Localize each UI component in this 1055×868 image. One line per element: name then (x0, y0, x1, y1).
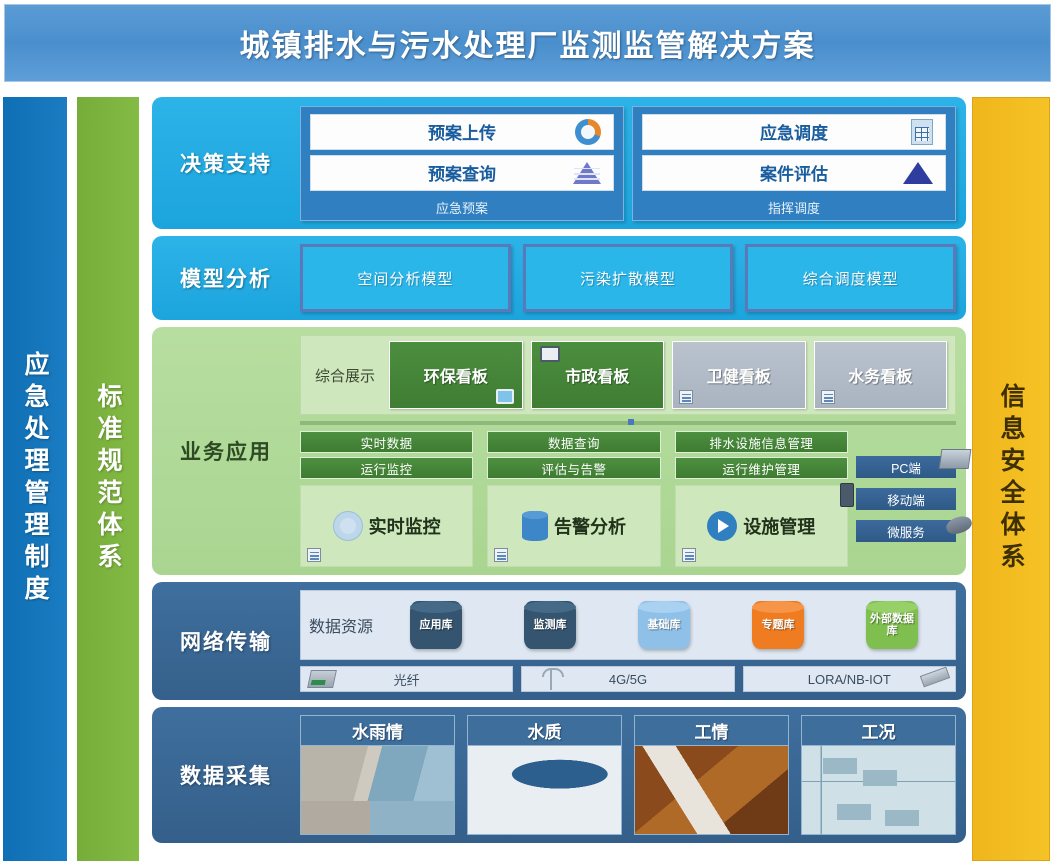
screen-icon (540, 346, 560, 362)
model-item-pollution[interactable]: 污染扩散模型 (523, 244, 734, 312)
business-button-assessment-alarm[interactable]: 评估与告警 (487, 457, 660, 479)
business-column-monitoring: 实时数据 运行监控 实时监控 (300, 431, 473, 567)
sedimentation-tanks-photo (468, 746, 621, 834)
data-card-label: 水质 (528, 718, 562, 743)
dashboard-card-water[interactable]: 水务看板 (814, 341, 948, 409)
fiber-icon (307, 670, 337, 688)
business-button-label: 数据查询 (548, 433, 600, 452)
network-links-row: 光纤 4G/5G LORA/NB-IOT (300, 666, 956, 692)
data-card-label: 工情 (695, 718, 729, 743)
rail-information-security: 信息安全体系 (972, 97, 1050, 861)
dashboard-card-health[interactable]: 卫健看板 (672, 341, 806, 409)
model-item-spatial[interactable]: 空间分析模型 (300, 244, 511, 312)
data-card-label: 水雨情 (352, 718, 403, 743)
mobile-icon (840, 483, 854, 507)
model-item-label: 空间分析模型 (357, 268, 453, 289)
decision-group-command-dispatch: 应急调度 案件评估 指挥调度 (632, 106, 956, 221)
business-button-label: 运行维护管理 (722, 459, 800, 478)
model-item-label: 污染扩散模型 (580, 268, 676, 289)
section-divider (300, 421, 956, 425)
pipe-trench-photo (635, 746, 788, 834)
doc-icon (682, 548, 696, 562)
data-card-head: 水质 (468, 716, 621, 746)
river-embankment-photo (301, 746, 454, 834)
network-link-label: 4G/5G (609, 672, 647, 687)
network-link-label: LORA/NB-IOT (808, 672, 891, 687)
business-column-facility: 排水设施信息管理 运行维护管理 设施管理 (675, 431, 848, 567)
model-items: 空间分析模型 污染扩散模型 综合调度模型 (300, 244, 966, 312)
database-foundation[interactable]: 基础库 (638, 601, 690, 649)
database-slot: 专题库 (723, 601, 833, 649)
decision-group-emergency-plan: 预案上传 预案查询 应急预案 (300, 106, 624, 221)
dashboard-caption: 综合展示 (309, 365, 381, 386)
dashboard-row: 综合展示 环保看板 市政看板 卫健看板 水务看板 (300, 335, 956, 415)
monitor-icon (496, 389, 514, 404)
database-icon (522, 511, 548, 541)
database-label: 监测库 (534, 619, 567, 631)
doc-icon (307, 548, 321, 562)
data-collection-cards: 水雨情 水质 工情 (300, 707, 966, 843)
database-external[interactable]: 外部数据库 (866, 601, 918, 649)
terminal-microservice[interactable]: 微服务 (856, 520, 956, 542)
architecture-diagram: 城镇排水与污水处理厂监测监管解决方案 应急处理管理制度 标准规范体系 信息安全体… (0, 0, 1055, 868)
sensor-icon (920, 667, 950, 688)
business-application-label: 业务应用 (152, 436, 300, 466)
decision-item-plan-upload[interactable]: 预案上传 (310, 114, 614, 150)
data-card-water-quality[interactable]: 水质 (467, 715, 622, 835)
decision-group-caption: 指挥调度 (642, 196, 946, 217)
business-button-operation-monitor[interactable]: 运行监控 (300, 457, 473, 479)
business-feature-label: 告警分析 (554, 513, 626, 539)
data-resources-caption: 数据资源 (309, 613, 377, 637)
decision-item-label: 预案查询 (428, 160, 496, 185)
dashboard-card-label: 市政看板 (565, 363, 629, 387)
data-card-head: 工情 (635, 716, 788, 746)
network-link-fiber[interactable]: 光纤 (300, 666, 513, 692)
data-card-engineering[interactable]: 工情 (634, 715, 789, 835)
dashboard-card-label: 卫健看板 (707, 363, 771, 387)
decision-item-label: 案件评估 (760, 160, 828, 185)
rail-information-security-label: 信息安全体系 (993, 383, 1029, 575)
terminal-label: PC端 (891, 458, 921, 477)
database-slot: 应用库 (381, 601, 491, 649)
dashboard-card-label: 环保看板 (424, 363, 488, 387)
business-feature-alarm-analysis[interactable]: 告警分析 (487, 485, 660, 567)
network-link-cellular[interactable]: 4G/5G (521, 666, 734, 692)
database-thematic[interactable]: 专题库 (752, 601, 804, 649)
decision-groups: 预案上传 预案查询 应急预案 应急调度 案件评估 (300, 106, 966, 221)
model-analysis-band: 模型分析 空间分析模型 污染扩散模型 综合调度模型 (152, 236, 966, 320)
data-card-head: 水雨情 (301, 716, 454, 746)
database-label: 外部数据库 (866, 613, 918, 637)
pyramid-chart-icon (573, 162, 601, 184)
business-feature-facility-management[interactable]: 设施管理 (675, 485, 848, 567)
model-item-dispatch[interactable]: 综合调度模型 (745, 244, 956, 312)
database-slot: 基础库 (609, 601, 719, 649)
model-item-label: 综合调度模型 (803, 268, 899, 289)
business-columns: 实时数据 运行监控 实时监控 (300, 431, 848, 567)
database-label: 基础库 (648, 619, 681, 631)
mouse-icon (944, 513, 974, 536)
rail-standards-system-label: 标准规范体系 (90, 383, 126, 575)
data-card-head: 工况 (802, 716, 955, 746)
business-feature-realtime-monitoring[interactable]: 实时监控 (300, 485, 473, 567)
rail-emergency-management-label: 应急处理管理制度 (17, 351, 53, 607)
grid-table-icon (911, 119, 933, 145)
scada-diagram-photo (802, 746, 955, 834)
decision-support-label: 决策支持 (152, 148, 300, 178)
business-feature-label: 实时监控 (369, 513, 441, 539)
network-transmission-label: 网络传输 (152, 626, 300, 656)
data-resources-row: 数据资源 应用库 监测库 基础库 (300, 590, 956, 660)
business-button-data-query[interactable]: 数据查询 (487, 431, 660, 453)
data-collection-label: 数据采集 (152, 760, 300, 790)
database-label: 应用库 (420, 619, 453, 631)
page-title: 城镇排水与污水处理厂监测监管解决方案 (240, 21, 816, 65)
dashboard-card-environment[interactable]: 环保看板 (389, 341, 523, 409)
data-card-operating-condition[interactable]: 工况 (801, 715, 956, 835)
decision-group-caption: 应急预案 (310, 196, 614, 217)
terminal-pc[interactable]: PC端 (856, 456, 956, 478)
decision-item-label: 应急调度 (760, 119, 828, 144)
network-content: 数据资源 应用库 监测库 基础库 (300, 582, 966, 700)
business-button-label: 运行监控 (361, 459, 413, 478)
refresh-cycle-icon (575, 119, 601, 145)
play-icon (707, 511, 737, 541)
business-button-realtime-data[interactable]: 实时数据 (300, 431, 473, 453)
network-transmission-band: 网络传输 数据资源 应用库 监测库 (152, 582, 966, 700)
business-column-alarm: 数据查询 评估与告警 告警分析 (487, 431, 660, 567)
terminal-list: PC端 移动端 微服务 (856, 431, 956, 567)
model-analysis-label: 模型分析 (152, 263, 300, 293)
rail-emergency-management: 应急处理管理制度 (3, 97, 67, 861)
terminal-label: 微服务 (887, 522, 925, 541)
data-card-label: 工况 (862, 718, 896, 743)
decision-item-plan-query[interactable]: 预案查询 (310, 155, 614, 191)
title-bar: 城镇排水与污水处理厂监测监管解决方案 (4, 4, 1051, 82)
network-link-lora[interactable]: LORA/NB-IOT (743, 666, 956, 692)
business-button-maintenance[interactable]: 运行维护管理 (675, 457, 848, 479)
database-label: 专题库 (762, 619, 795, 631)
pyramid-dark-icon (903, 162, 933, 184)
decision-support-band: 决策支持 预案上传 预案查询 应急预案 应急调度 (152, 97, 966, 229)
rail-standards-system: 标准规范体系 (77, 97, 139, 861)
business-application-label-text: 业务应用 (180, 441, 272, 464)
laptop-icon (939, 449, 972, 469)
data-collection-band: 数据采集 水雨情 水质 工情 (152, 707, 966, 843)
business-button-label: 评估与告警 (541, 459, 606, 478)
business-button-label: 实时数据 (361, 433, 413, 452)
database-slot: 外部数据库 (837, 601, 947, 649)
business-lower: 实时数据 运行监控 实时监控 (300, 431, 956, 567)
network-link-label: 光纤 (394, 670, 420, 689)
antenna-icon (550, 668, 552, 690)
decision-item-emergency-dispatch[interactable]: 应急调度 (642, 114, 946, 150)
business-button-label: 排水设施信息管理 (709, 433, 813, 452)
business-content: 综合展示 环保看板 市政看板 卫健看板 水务看板 (300, 327, 966, 575)
decision-item-label: 预案上传 (428, 119, 496, 144)
data-card-rainfall[interactable]: 水雨情 (300, 715, 455, 835)
database-slot: 监测库 (495, 601, 605, 649)
business-application-band: 业务应用 综合展示 环保看板 市政看板 卫健看板 (152, 327, 966, 575)
terminal-label: 移动端 (887, 490, 925, 509)
business-feature-label: 设施管理 (743, 513, 815, 539)
main-stack: 决策支持 预案上传 预案查询 应急预案 应急调度 (152, 97, 966, 861)
dashboard-card-municipal[interactable]: 市政看板 (531, 341, 665, 409)
dashboard-card-label: 水务看板 (848, 363, 912, 387)
terminal-mobile[interactable]: 移动端 (856, 488, 956, 510)
database-monitoring[interactable]: 监测库 (524, 601, 576, 649)
database-application[interactable]: 应用库 (410, 601, 462, 649)
business-button-drainage-info[interactable]: 排水设施信息管理 (675, 431, 848, 453)
globe-icon (333, 511, 363, 541)
doc-icon (821, 390, 835, 404)
doc-icon (494, 548, 508, 562)
decision-item-case-assessment[interactable]: 案件评估 (642, 155, 946, 191)
doc-icon (679, 390, 693, 404)
